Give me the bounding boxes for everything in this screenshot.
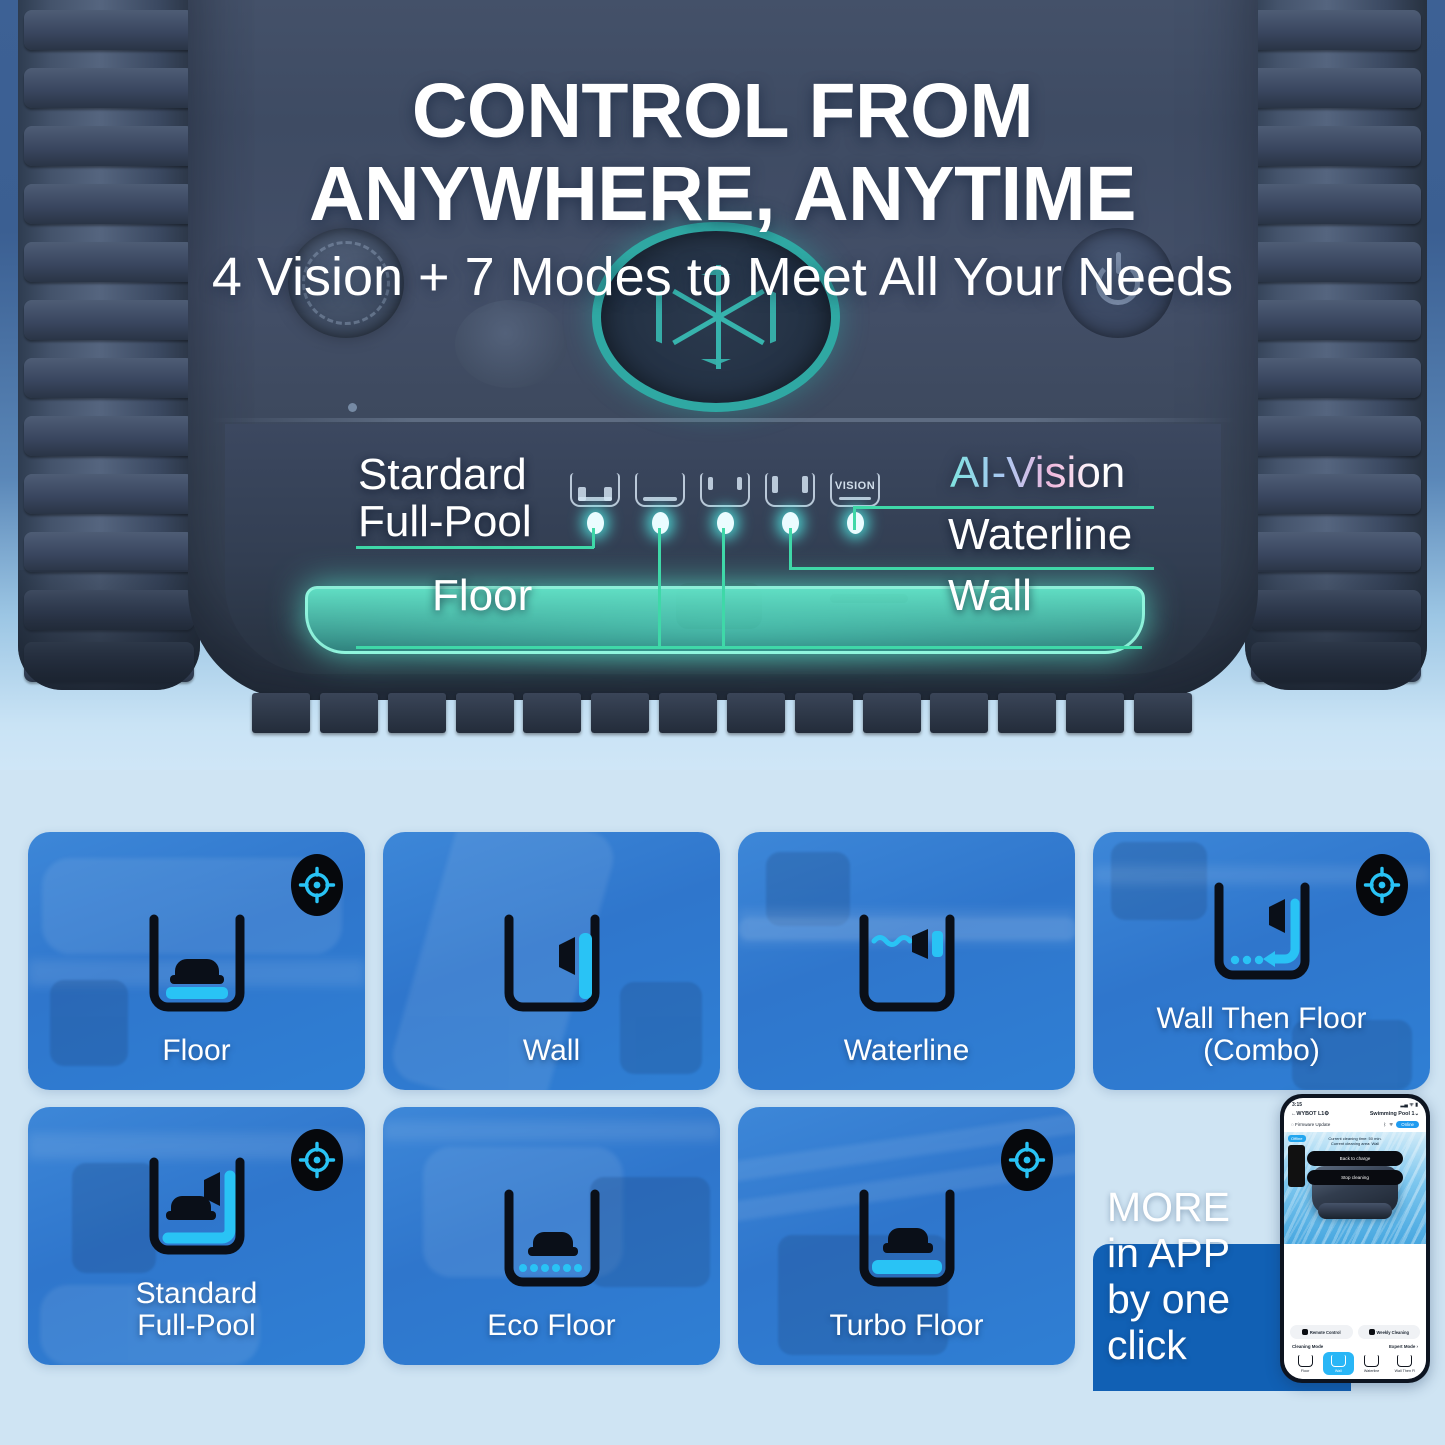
combo-mode-icon [1397, 1355, 1412, 1367]
mode-card-label: Floor [162, 1035, 230, 1091]
robot-pinhole-icon [348, 403, 357, 412]
phone-stop-cleaning-button[interactable]: Stop cleaning [1307, 1170, 1403, 1185]
phone-expert-mode-link[interactable]: Expert Mode › [1389, 1344, 1418, 1349]
mode-card-row-2: Standard Full-Pool Eco Floor [28, 1107, 1425, 1365]
leader-line-floor-h [356, 646, 1142, 649]
phone-cleaning-mode-label: Cleaning Mode [1292, 1344, 1323, 1349]
combo-mode-icon [1197, 875, 1327, 987]
robot-lens [455, 300, 567, 388]
phone-bottom-sheet: Remote Control Weekly Cleaning Cleaning … [1284, 1318, 1426, 1379]
phone-status-bar: 3:15 ▂▄ ᯤ ▮ [1284, 1098, 1426, 1109]
app-promo: MORE in APP by one click 3:15 ▂▄ ᯤ ▮ ← W… [1093, 1107, 1430, 1365]
mode-card-label: Wall Then Floor (Combo) [1156, 1003, 1366, 1090]
mode-card-label: Standard Full-Pool [136, 1278, 258, 1365]
phone-mockup: 3:15 ▂▄ ᯤ ▮ ← WYBOT L1 ⚙ Swimming Pool 1… [1280, 1094, 1430, 1383]
leader-line-standard-v [592, 528, 595, 548]
phone-mode-tab-floor[interactable]: Floor [1290, 1352, 1320, 1375]
remote-control-icon [1302, 1329, 1308, 1335]
leader-line-aivision-h [853, 506, 1154, 509]
wall-indicator-icon [765, 473, 815, 507]
mode-card-label: Turbo Floor [830, 1310, 984, 1366]
vision-indicator-strip: VISION [570, 473, 880, 509]
phone-weekly-cleaning-button[interactable]: Weekly Cleaning [1358, 1325, 1421, 1339]
mode-card-label: Eco Floor [487, 1310, 615, 1366]
mode-card-wall[interactable]: Wall [383, 832, 720, 1090]
ai-vision-badge [291, 1129, 343, 1191]
phone-caption: Current cleaning time: 50 min. Current c… [1284, 1132, 1426, 1147]
phone-mode-tabs: Floor Wall Waterline [1290, 1352, 1420, 1375]
leader-line-standard [356, 546, 494, 549]
mode-card-eco-floor[interactable]: Eco Floor [383, 1107, 720, 1365]
leader-line-standard-h2 [492, 546, 594, 549]
phone-firmware-update[interactable]: ◌ Firmware Update [1291, 1122, 1330, 1127]
phone-mode-tab-wall[interactable]: Wall [1323, 1352, 1353, 1375]
phone-pool-selector[interactable]: Swimming Pool 1 [1370, 1111, 1415, 1117]
ai-vision-indicator-icon: VISION [830, 473, 880, 507]
phone-nav-bar: ← WYBOT L1 ⚙ Swimming Pool 1 ⌄ [1284, 1109, 1426, 1119]
chevron-down-icon[interactable]: ⌄ [1414, 1111, 1419, 1117]
phone-online-badge: Online [1396, 1121, 1419, 1128]
waterline-indicator-icon [700, 473, 750, 507]
phone-device-name: WYBOT L1 [1296, 1111, 1324, 1117]
phone-firmware-row: ◌ Firmware Update ᛒ ᯤ Online [1284, 1119, 1426, 1132]
phone-caption-line2: Current cleaning area: Wall [1284, 1141, 1426, 1146]
waterline-mode-icon [1364, 1355, 1379, 1367]
mode-card-grid: Floor Wall [28, 832, 1425, 1365]
mode-card-floor[interactable]: Floor [28, 832, 365, 1090]
hero-subheadline: 4 Vision + 7 Modes to Meet All Your Need… [0, 248, 1445, 307]
floor-mode-icon [132, 907, 262, 1019]
floor-mode-icon [1298, 1355, 1313, 1367]
robot-brush-nubs [252, 693, 1192, 733]
callout-standard-full-pool: Stardard Full-Pool [358, 452, 532, 545]
phone-back-to-charge-button[interactable]: Back to charge [1307, 1151, 1403, 1166]
hero-headline-line2: ANYWHERE, ANYTIME [0, 155, 1445, 234]
robot-body-seam [210, 418, 1236, 422]
phone-clock: 3:15 [1292, 1102, 1302, 1108]
eco-floor-mode-icon [487, 1182, 617, 1294]
leader-line-waterline-v [789, 528, 792, 570]
vision-led-row [570, 512, 880, 538]
wifi-icon: ᯤ [1386, 1122, 1396, 1128]
phone-remote-control-button[interactable]: Remote Control [1290, 1325, 1353, 1339]
phone-mode-tab-wall-then-floor[interactable]: Wall Then Fl [1390, 1352, 1420, 1375]
phone-device-settings-icon[interactable]: ⚙ [1324, 1111, 1329, 1117]
mode-card-wall-then-floor[interactable]: Wall Then Floor (Combo) [1093, 832, 1430, 1090]
wall-mode-icon [1331, 1355, 1346, 1367]
phone-mode-tab-waterline[interactable]: Waterline [1357, 1352, 1387, 1375]
phone-mode-header: Cleaning Mode Expert Mode › [1290, 1339, 1420, 1352]
phone-hero-area: Offline Current cleaning time: 50 min. C… [1284, 1132, 1426, 1244]
mode-card-label: Wall [523, 1035, 580, 1091]
vision-badge-label: VISION [835, 480, 875, 492]
callout-waterline: Waterline [948, 512, 1132, 559]
wall-mode-icon [487, 907, 617, 1019]
ai-vision-badge [291, 854, 343, 916]
floor-indicator-icon [635, 473, 685, 507]
callout-wall: Wall [948, 573, 1032, 620]
hero-headline-line1: CONTROL FROM [0, 72, 1445, 151]
phone-device-thumbnail[interactable] [1288, 1145, 1305, 1187]
standard-full-pool-mode-icon [132, 1150, 262, 1262]
phone-status-icons: ▂▄ ᯤ ▮ [1401, 1102, 1418, 1108]
standard-full-pool-indicator-icon [570, 473, 620, 507]
callout-floor: Floor [432, 573, 532, 620]
callout-ai-vision: AI-Vision [950, 450, 1125, 497]
hero-banner: VISION CONTROL FROM ANYWHERE, ANYTIME 4 … [0, 0, 1445, 770]
turbo-floor-mode-icon [842, 1182, 972, 1294]
phone-screen: 3:15 ▂▄ ᯤ ▮ ← WYBOT L1 ⚙ Swimming Pool 1… [1284, 1098, 1426, 1379]
mode-card-row-1: Floor Wall [28, 832, 1425, 1090]
leader-line-waterline-h [789, 567, 1154, 570]
mode-card-waterline[interactable]: Waterline [738, 832, 1075, 1090]
leader-line-aivision-v [853, 508, 856, 530]
mode-card-turbo-floor[interactable]: Turbo Floor [738, 1107, 1075, 1365]
ai-vision-badge [1001, 1129, 1053, 1191]
calendar-icon [1369, 1329, 1375, 1335]
ai-vision-badge [1356, 854, 1408, 916]
waterline-mode-icon [842, 907, 972, 1019]
mode-card-label: Waterline [844, 1035, 970, 1091]
leader-line-floor-v2 [722, 528, 725, 648]
leader-line-floor-v [658, 528, 661, 648]
phone-quick-actions: Remote Control Weekly Cleaning [1290, 1325, 1420, 1339]
mode-card-standard-full-pool[interactable]: Standard Full-Pool [28, 1107, 365, 1365]
